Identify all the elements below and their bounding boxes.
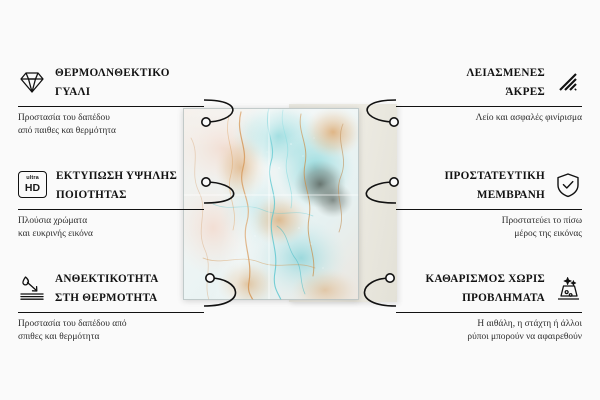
feature-description: Προστασία του δαπέδου από παιθες και θερ… (18, 112, 204, 139)
marble-artwork (183, 108, 359, 300)
divider (18, 312, 204, 313)
feature-title: ΚΑΘΑΡΙΣΜΟΣ ΧΩΡΙΣ ΠΡΟΒΛΗΜΑΤΑ (425, 269, 545, 307)
feature-title: ΑΝΘΕΚΤΙΚΟΤΗΤΑ ΣΤΗ ΘΕΡΜΟΤΗΤΑ (55, 269, 159, 307)
feature-description: Προστατεύει το πίσω μέρος της εικόνας (396, 215, 582, 242)
feature-heat-durability: ΑΝΘΕΚΤΙΚΟΤΗΤΑ ΣΤΗ ΘΕΡΜΟΤΗΤΑ Προστασία το… (18, 269, 204, 344)
feature-title: ΠΡΟΣΤΑΤΕΥΤΙΚΗ ΜΕΜΒΡΑΝΗ (445, 166, 545, 204)
feature-description: Λείο και ασφαλές φινίρισμα (396, 112, 582, 125)
feature-description: Προστασία του δαπέδου από σπιθες και θερ… (18, 318, 204, 345)
flame-heat-resistance-icon (18, 274, 46, 302)
feature-title: ΘΕΡΜΟΛΝΘΕΚΤΙΚΟ ΓΥΑΛΙ (55, 63, 170, 101)
product-feature-infographic: ΘΕΡΜΟΛΝΘΕΚΤΙΚΟ ΓΥΑΛΙ Προστασία του δαπέδ… (0, 0, 600, 400)
divider (396, 209, 582, 210)
feature-high-quality-print: ultra HD ΕΚΤΥΠΩΣΗ ΥΨΗΛΗΣ ΠΟΙΟΤΗΤΑΣ Πλούσ… (18, 166, 204, 241)
glass-panel (183, 108, 359, 300)
sponge-sparkle-icon (554, 274, 582, 302)
feature-description: Πλούσια χρώματα και ευκρινής εικόνα (18, 215, 204, 242)
feature-polished-edges: ΛΕΙΑΣΜΕΝΕΣ ΆΚΡΕΣ Λείο και ασφαλές φινίρι… (396, 63, 582, 125)
feature-description: Η αιθάλη, η στάχτη ή άλλοι ρύποι μπορούν… (396, 318, 582, 345)
diamond-icon (18, 68, 46, 96)
feature-title: ΛΕΙΑΣΜΕΝΕΣ ΆΚΡΕΣ (466, 63, 545, 101)
ultra-hd-badge-icon: ultra HD (18, 171, 47, 198)
divider (18, 209, 204, 210)
feature-title: ΕΚΤΥΠΩΣΗ ΥΨΗΛΗΣ ΠΟΙΟΤΗΤΑΣ (56, 166, 177, 204)
divider (396, 106, 582, 107)
polished-edges-icon (554, 68, 582, 96)
feature-easy-cleaning: ΚΑΘΑΡΙΣΜΟΣ ΧΩΡΙΣ ΠΡΟΒΛΗΜΑΤΑ Η αιθάλη, η … (396, 269, 582, 344)
divider (18, 106, 204, 107)
feature-heat-resistant-glass: ΘΕΡΜΟΛΝΘΕΚΤΙΚΟ ΓΥΑΛΙ Προστασία του δαπέδ… (18, 63, 204, 138)
feature-protective-film: ΠΡΟΣΤΑΤΕΥΤΙΚΗ ΜΕΜΒΡΑΝΗ Προστατεύει το πί… (396, 166, 582, 241)
divider (396, 312, 582, 313)
shield-check-icon (554, 171, 582, 199)
product-image (183, 108, 398, 300)
